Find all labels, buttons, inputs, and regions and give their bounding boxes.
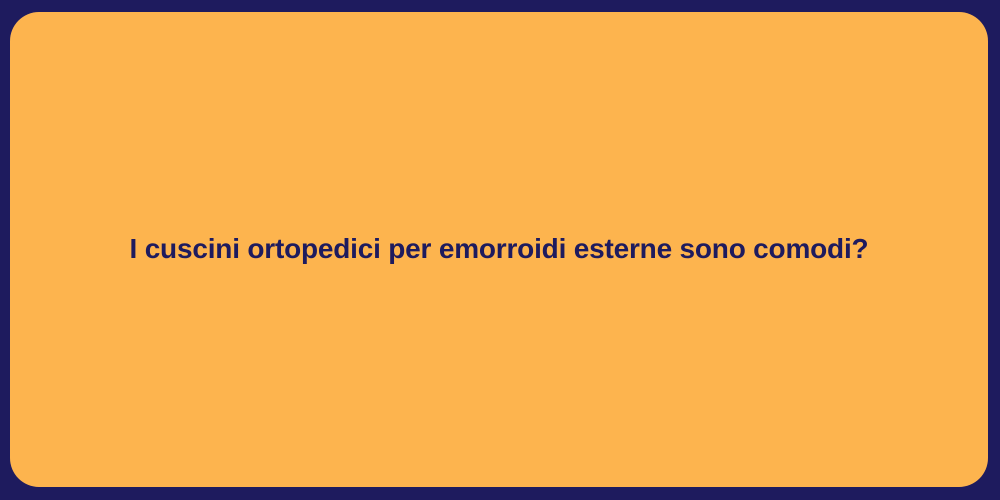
page-canvas: I cuscini ortopedici per emorroidi ester… [0,0,1000,500]
page-title: I cuscini ortopedici per emorroidi ester… [90,231,909,267]
headline-card: I cuscini ortopedici per emorroidi ester… [10,12,988,487]
